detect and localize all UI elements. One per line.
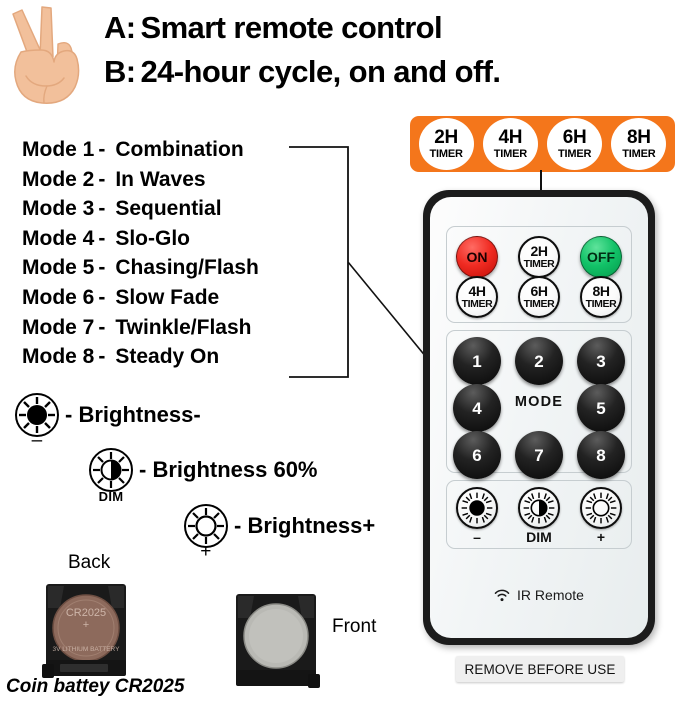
mode-label: Mode 5 — [22, 253, 94, 283]
sun-outline-icon: + — [183, 503, 229, 549]
mode-row: Mode 1-Combination — [22, 135, 322, 165]
sun-half-icon — [520, 489, 558, 527]
timer-4h-button[interactable]: 4H TIMER — [456, 276, 498, 318]
mode-name: Twinkle/Flash — [115, 313, 251, 343]
mode-button-4[interactable]: 4 — [453, 384, 501, 432]
timer-badge-4h: 4H TIMER — [483, 118, 538, 170]
mode-name: Chasing/Flash — [115, 253, 259, 283]
battery-pull-tab[interactable]: REMOVE BEFORE USE — [456, 656, 624, 682]
timer-badge-hours: 6H — [563, 128, 587, 147]
header-line-a: A:Smart remote control — [104, 6, 664, 50]
battery-back-label: Back — [68, 552, 110, 574]
timer-button-hours: 2H — [530, 244, 547, 258]
sun-outline-icon — [582, 489, 620, 527]
mode-row: Mode 3-Sequential — [22, 194, 322, 224]
brightness-dim-text: - Brightness 60% — [139, 457, 318, 483]
timer-badge-hours: 4H — [499, 128, 523, 147]
remote-control: ON 2H TIMER OFF 4H TIMER 6H TIMER 8H TIM… — [423, 190, 655, 645]
battery-front-image — [228, 588, 324, 692]
brightness-dim-legend: DIM - Brightness 60% — [88, 447, 318, 493]
mode-dash: - — [94, 165, 115, 195]
mode-label: Mode 4 — [22, 224, 94, 254]
mode-dash: - — [94, 194, 115, 224]
on-button[interactable]: ON — [456, 236, 498, 278]
mode-label: Mode 8 — [22, 342, 94, 372]
svg-text:+: + — [83, 619, 89, 631]
dim-label: DIM — [518, 529, 560, 545]
timer-badge-hours: 8H — [627, 128, 651, 147]
mode-button-1[interactable]: 1 — [453, 337, 501, 385]
mode-label: Mode 6 — [22, 283, 94, 313]
ir-remote-text: IR Remote — [517, 587, 584, 603]
timer-button-hours: 8H — [592, 284, 609, 298]
mode-button-5[interactable]: 5 — [577, 384, 625, 432]
mode-dash: - — [94, 253, 115, 283]
mode-list: Mode 1-Combination Mode 2-In Waves Mode … — [22, 135, 322, 372]
mode-name: Combination — [115, 135, 243, 165]
header-key-b: B: — [104, 54, 136, 89]
battery-back-image: CR2025 + 3V LITHIUM BATTERY — [38, 578, 134, 682]
timer-6h-button[interactable]: 6H TIMER — [518, 276, 560, 318]
mode-row: Mode 2-In Waves — [22, 165, 322, 195]
timer-8h-button[interactable]: 8H TIMER — [580, 276, 622, 318]
mode-button-6[interactable]: 6 — [453, 431, 501, 479]
timer-button-label: TIMER — [524, 259, 555, 270]
header-key-a: A: — [104, 10, 136, 45]
brightness-plus-legend: + - Brightness+ — [183, 503, 375, 549]
svg-text:3V LITHIUM BATTERY: 3V LITHIUM BATTERY — [53, 646, 121, 653]
sun-half-icon: DIM — [88, 447, 134, 493]
timer-button-label: TIMER — [524, 299, 555, 310]
mode-name: Slow Fade — [115, 283, 219, 313]
mode-label: Mode 7 — [22, 313, 94, 343]
timer-badge-label: TIMER — [494, 149, 527, 160]
mode-dash: - — [94, 283, 115, 313]
timer-badge-label: TIMER — [622, 149, 655, 160]
mode-dash: - — [94, 224, 115, 254]
dim-plus-label: + — [580, 529, 622, 545]
header-text-b: 24-hour cycle, on and off. — [141, 54, 501, 89]
mode-dash: - — [94, 313, 115, 343]
brightness-minus-sign: – — [14, 430, 60, 452]
header-text: A:Smart remote control B:24-hour cycle, … — [104, 6, 664, 94]
mode-name: Sequential — [115, 194, 221, 224]
timer-badge-8h: 8H TIMER — [611, 118, 666, 170]
timer-button-hours: 4H — [468, 284, 485, 298]
brightness-dim-button[interactable] — [518, 487, 560, 529]
instruction-diagram: A:Smart remote control B:24-hour cycle, … — [0, 0, 679, 714]
battery-front-label: Front — [332, 616, 376, 638]
mode-row: Mode 8-Steady On — [22, 342, 322, 372]
timer-2h-button[interactable]: 2H TIMER — [518, 236, 560, 278]
mode-name: In Waves — [115, 165, 205, 195]
mode-row: Mode 6-Slow Fade — [22, 283, 322, 313]
brightness-down-button[interactable] — [456, 487, 498, 529]
timer-banner: 2H TIMER 4H TIMER 6H TIMER 8H TIMER — [410, 116, 675, 172]
mode-button-3[interactable]: 3 — [577, 337, 625, 385]
dim-minus-label: – — [456, 529, 498, 545]
sun-filled-icon — [458, 489, 496, 527]
mode-button-2[interactable]: 2 — [515, 337, 563, 385]
timer-button-label: TIMER — [462, 299, 493, 310]
mode-name: Slo-Glo — [115, 224, 190, 254]
ir-remote-footer: IR Remote — [430, 587, 648, 603]
timer-badge-6h: 6H TIMER — [547, 118, 602, 170]
timer-badge-label: TIMER — [558, 149, 591, 160]
wifi-signal-icon — [494, 589, 510, 602]
brightness-plus-text: - Brightness+ — [234, 513, 375, 539]
mode-label: Mode 1 — [22, 135, 94, 165]
mode-row: Mode 7-Twinkle/Flash — [22, 313, 322, 343]
mode-row: Mode 4-Slo-Glo — [22, 224, 322, 254]
remote-face: ON 2H TIMER OFF 4H TIMER 6H TIMER 8H TIM… — [430, 197, 648, 638]
mode-row: Mode 5-Chasing/Flash — [22, 253, 322, 283]
mode-button-8[interactable]: 8 — [577, 431, 625, 479]
mode-label: Mode 3 — [22, 194, 94, 224]
brightness-minus-text: - Brightness- — [65, 402, 201, 428]
timer-badge-label: TIMER — [430, 149, 463, 160]
timer-badge-2h: 2H TIMER — [419, 118, 474, 170]
mode-button-7[interactable]: 7 — [515, 431, 563, 479]
brightness-up-button[interactable] — [580, 487, 622, 529]
mode-list-bracket — [288, 144, 350, 380]
mode-label: Mode 2 — [22, 165, 94, 195]
header: A:Smart remote control B:24-hour cycle, … — [0, 0, 679, 108]
mode-name: Steady On — [115, 342, 219, 372]
timer-button-label: TIMER — [586, 299, 617, 310]
sun-filled-icon: – — [14, 392, 60, 438]
victory-hand-emoji — [4, 4, 96, 104]
timer-button-hours: 6H — [530, 284, 547, 298]
mode-dash: - — [94, 342, 115, 372]
timer-badge-hours: 2H — [434, 128, 458, 147]
brightness-dim-label: DIM — [88, 489, 134, 504]
off-button[interactable]: OFF — [580, 236, 622, 278]
svg-text:CR2025: CR2025 — [66, 607, 106, 619]
brightness-minus-legend: – - Brightness- — [14, 392, 201, 438]
mode-dash: - — [94, 135, 115, 165]
header-line-b: B:24-hour cycle, on and off. — [104, 50, 664, 94]
header-text-a: Smart remote control — [141, 10, 443, 45]
